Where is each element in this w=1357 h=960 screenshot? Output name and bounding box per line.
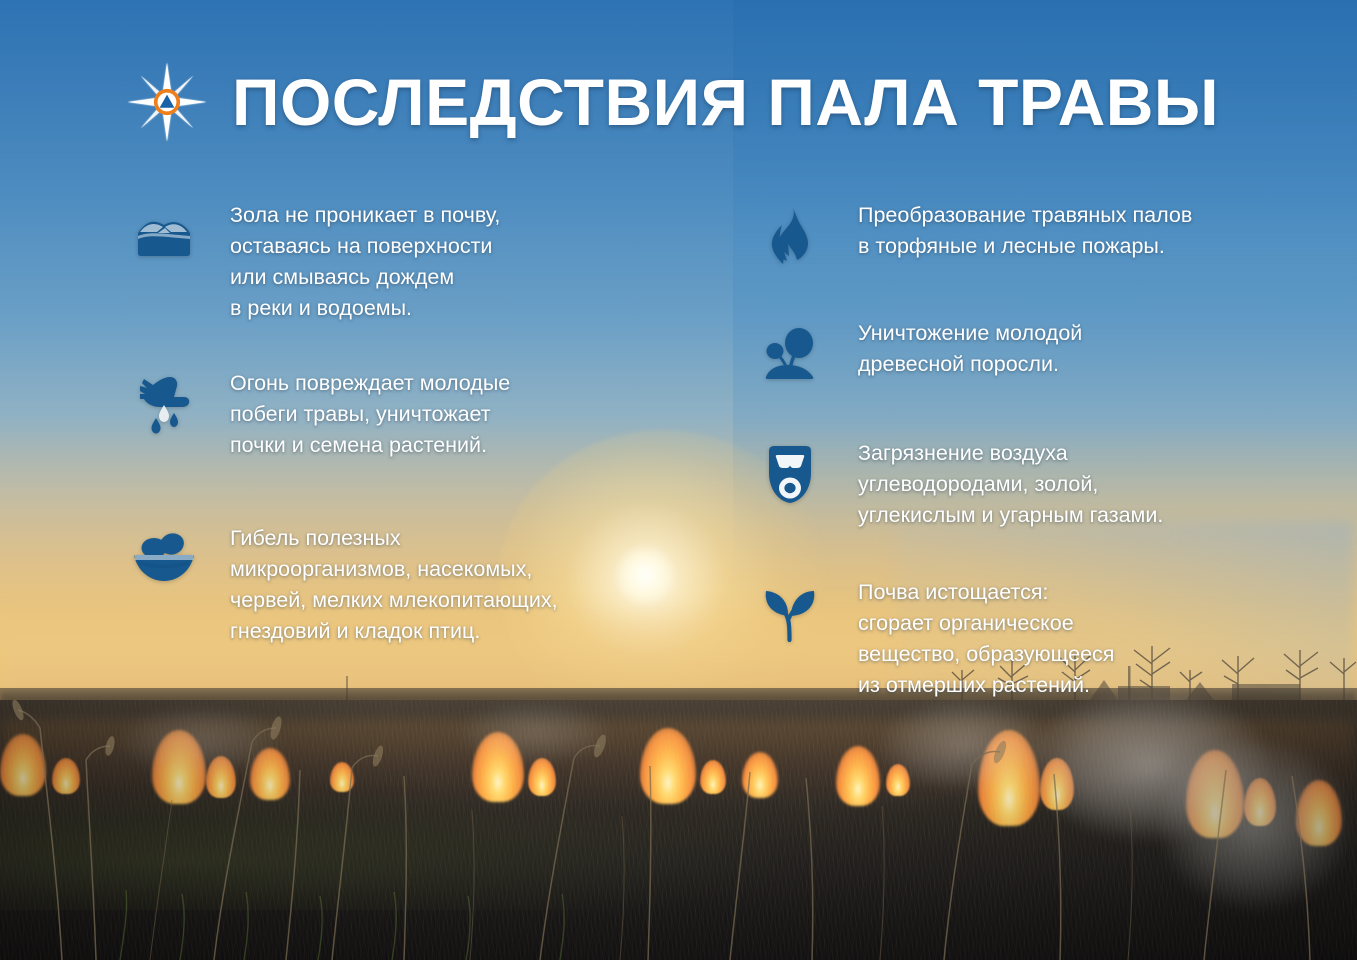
list-item: Гибель полезных микроорганизмов, насеком… [126,521,666,647]
list-item-text: Гибель полезных микроорганизмов, насеком… [230,521,558,647]
gas-mask-icon [752,436,828,512]
list-item-text: Загрязнение воздуха углеводородами, золо… [858,436,1163,531]
list-item-text: Почва истощается: сгорает органическое в… [858,575,1114,701]
list-item: Зола не проникает в почву, оставаясь на … [126,198,666,324]
list-item: Огонь повреждает молодые побеги травы, у… [126,366,666,461]
list-item-text: Зола не проникает в почву, оставаясь на … [230,198,500,324]
left-column: Зола не проникает в почву, оставаясь на … [126,198,666,647]
list-item: Загрязнение воздуха углеводородами, золо… [752,436,1272,531]
page-title: ПОСЛЕДСТВИЯ ПАЛА ТРАВЫ [232,69,1219,135]
list-item-text: Преобразование травяных палов в торфяные… [858,198,1192,262]
sapling-tree-icon [752,316,828,392]
nest-with-eggs-icon [126,521,202,597]
emercom-star-emblem-icon [126,61,208,143]
list-item: Почва истощается: сгорает органическое в… [752,575,1272,701]
hand-water-drops-icon [126,366,202,442]
list-item-text: Уничтожение молодой древесной поросли. [858,316,1082,380]
list-item-text: Огонь повреждает молодые побеги травы, у… [230,366,510,461]
soil-layer-icon [126,198,202,274]
list-item: Уничтожение молодой древесной поросли. [752,316,1272,392]
sprout-two-leaves-icon [752,575,828,651]
infographic-poster: ПОСЛЕДСТВИЯ ПАЛА ТРАВЫ Зола не проникает… [0,0,1357,960]
poster-header: ПОСЛЕДСТВИЯ ПАЛА ТРАВЫ [0,56,1357,148]
list-item: Преобразование травяных палов в торфяные… [752,198,1272,274]
flame-icon [752,198,828,274]
right-column: Преобразование травяных палов в торфяные… [752,198,1272,701]
